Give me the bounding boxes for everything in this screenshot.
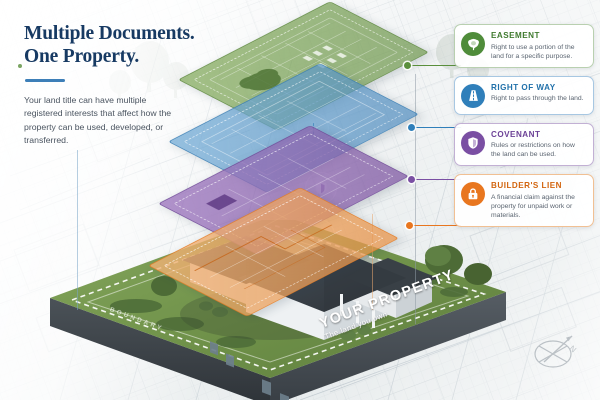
- compass-north-label: N: [568, 344, 578, 355]
- legend-desc-right-of-way: Right to pass through the land.: [491, 94, 584, 103]
- legend-card-easement[interactable]: EASEMENT Right to use a portion of the l…: [454, 24, 594, 68]
- legend-badge-covenant: [461, 131, 485, 155]
- legend-text-easement: EASEMENT Right to use a portion of the l…: [491, 31, 586, 61]
- connector-dot-covenant: [408, 176, 415, 183]
- road-icon: [466, 88, 481, 103]
- legend-title-right-of-way: RIGHT OF WAY: [491, 83, 584, 93]
- legend-text-covenant: COVENANT Rules or restrictions on how th…: [491, 130, 586, 160]
- lock-icon: [466, 187, 480, 201]
- legend-text-right-of-way: RIGHT OF WAY Right to pass through the l…: [491, 83, 584, 104]
- connector-dot-accent: [18, 64, 22, 68]
- connector-dot-right-of-way: [408, 124, 415, 131]
- legend-badge-easement: [461, 32, 485, 56]
- page-title: Multiple Documents. One Property.: [24, 22, 224, 68]
- legend-desc-easement: Right to use a portion of the land for a…: [491, 43, 586, 61]
- intro-block: Multiple Documents. One Property. Your l…: [24, 22, 224, 148]
- intro-paragraph: Your land title can have multiple regist…: [24, 94, 184, 148]
- title-accent-rule: [25, 79, 65, 82]
- shield-icon: [466, 136, 480, 150]
- compass-rose: N: [528, 322, 584, 378]
- page-title-line2: One Property.: [24, 46, 139, 67]
- legend-title-easement: EASEMENT: [491, 31, 586, 41]
- legend-title-builders-lien: BUILDER'S LIEN: [491, 181, 586, 191]
- legend-card-builders-lien[interactable]: BUILDER'S LIEN A financial claim against…: [454, 174, 594, 227]
- tree-icon: [466, 37, 481, 52]
- connector-dot-builders-lien: [406, 222, 413, 229]
- connector-dot-easement: [404, 62, 411, 69]
- legend-card-covenant[interactable]: COVENANT Rules or restrictions on how th…: [454, 123, 594, 167]
- legend-title-covenant: COVENANT: [491, 130, 586, 140]
- legend-desc-covenant: Rules or restrictions on how the land ca…: [491, 141, 586, 159]
- page-title-line1: Multiple Documents.: [24, 23, 195, 44]
- legend-card-list: EASEMENT Right to use a portion of the l…: [454, 24, 594, 235]
- legend-text-builders-lien: BUILDER'S LIEN A financial claim against…: [491, 181, 586, 220]
- infographic-canvas: YOUR PROPERTY The land you own BOUNDARY: [0, 0, 600, 400]
- legend-desc-builders-lien: A financial claim against the property f…: [491, 193, 586, 220]
- legend-badge-builders-lien: [461, 182, 485, 206]
- legend-card-right-of-way[interactable]: RIGHT OF WAY Right to pass through the l…: [454, 76, 594, 115]
- legend-badge-right-of-way: [461, 84, 485, 108]
